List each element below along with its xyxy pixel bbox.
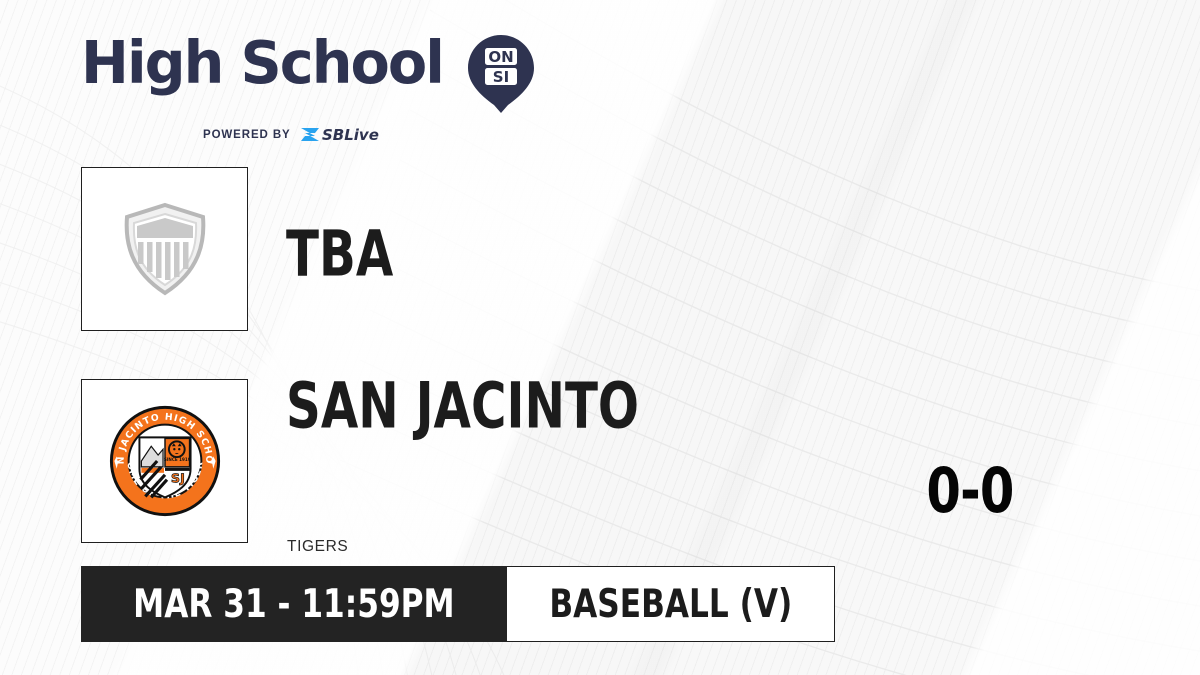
- home-team-name: SAN JACINTO: [286, 374, 639, 437]
- game-info-bar: MAR 31 - 11:59PM BASEBALL (V): [81, 566, 835, 642]
- powered-by-row: POWERED BY SBLive: [203, 125, 534, 144]
- home-team-mascot: TIGERS: [287, 538, 348, 556]
- brand-logo[interactable]: High School ON SI POWERED BY SBLive: [81, 34, 534, 144]
- game-sport-chip: BASEBALL (V): [507, 566, 836, 642]
- home-team-logo-box[interactable]: SAN JACINTO HIGH SCHOOL HOME OF THE TIGE…: [81, 379, 248, 543]
- san-jacinto-seal-icon: SAN JACINTO HIGH SCHOOL HOME OF THE TIGE…: [106, 402, 224, 520]
- game-datetime-text: MAR 31 - 11:59PM: [133, 585, 454, 624]
- score-display: 0-0: [892, 460, 1047, 522]
- scoreboard-card: High School ON SI POWERED BY SBLive: [0, 0, 1200, 675]
- away-team-logo-box[interactable]: [81, 167, 248, 331]
- game-datetime-chip: MAR 31 - 11:59PM: [81, 566, 507, 642]
- away-team-name: TBA: [286, 222, 393, 285]
- powered-by-label: POWERED BY: [203, 129, 291, 141]
- pin-text-si: SI: [493, 68, 509, 86]
- seal-monogram: SJ: [170, 472, 184, 487]
- pin-text-on: ON: [488, 48, 513, 66]
- placeholder-shield-icon: [115, 199, 215, 299]
- sblive-logo: SBLive: [299, 125, 399, 144]
- seal-since-text: SINCE 1919: [163, 457, 190, 462]
- game-sport-text: BASEBALL (V): [549, 585, 792, 624]
- brand-title: High School: [81, 34, 443, 92]
- onsi-pin-icon: ON SI: [468, 35, 534, 118]
- sblive-wordmark: SBLive: [322, 126, 379, 144]
